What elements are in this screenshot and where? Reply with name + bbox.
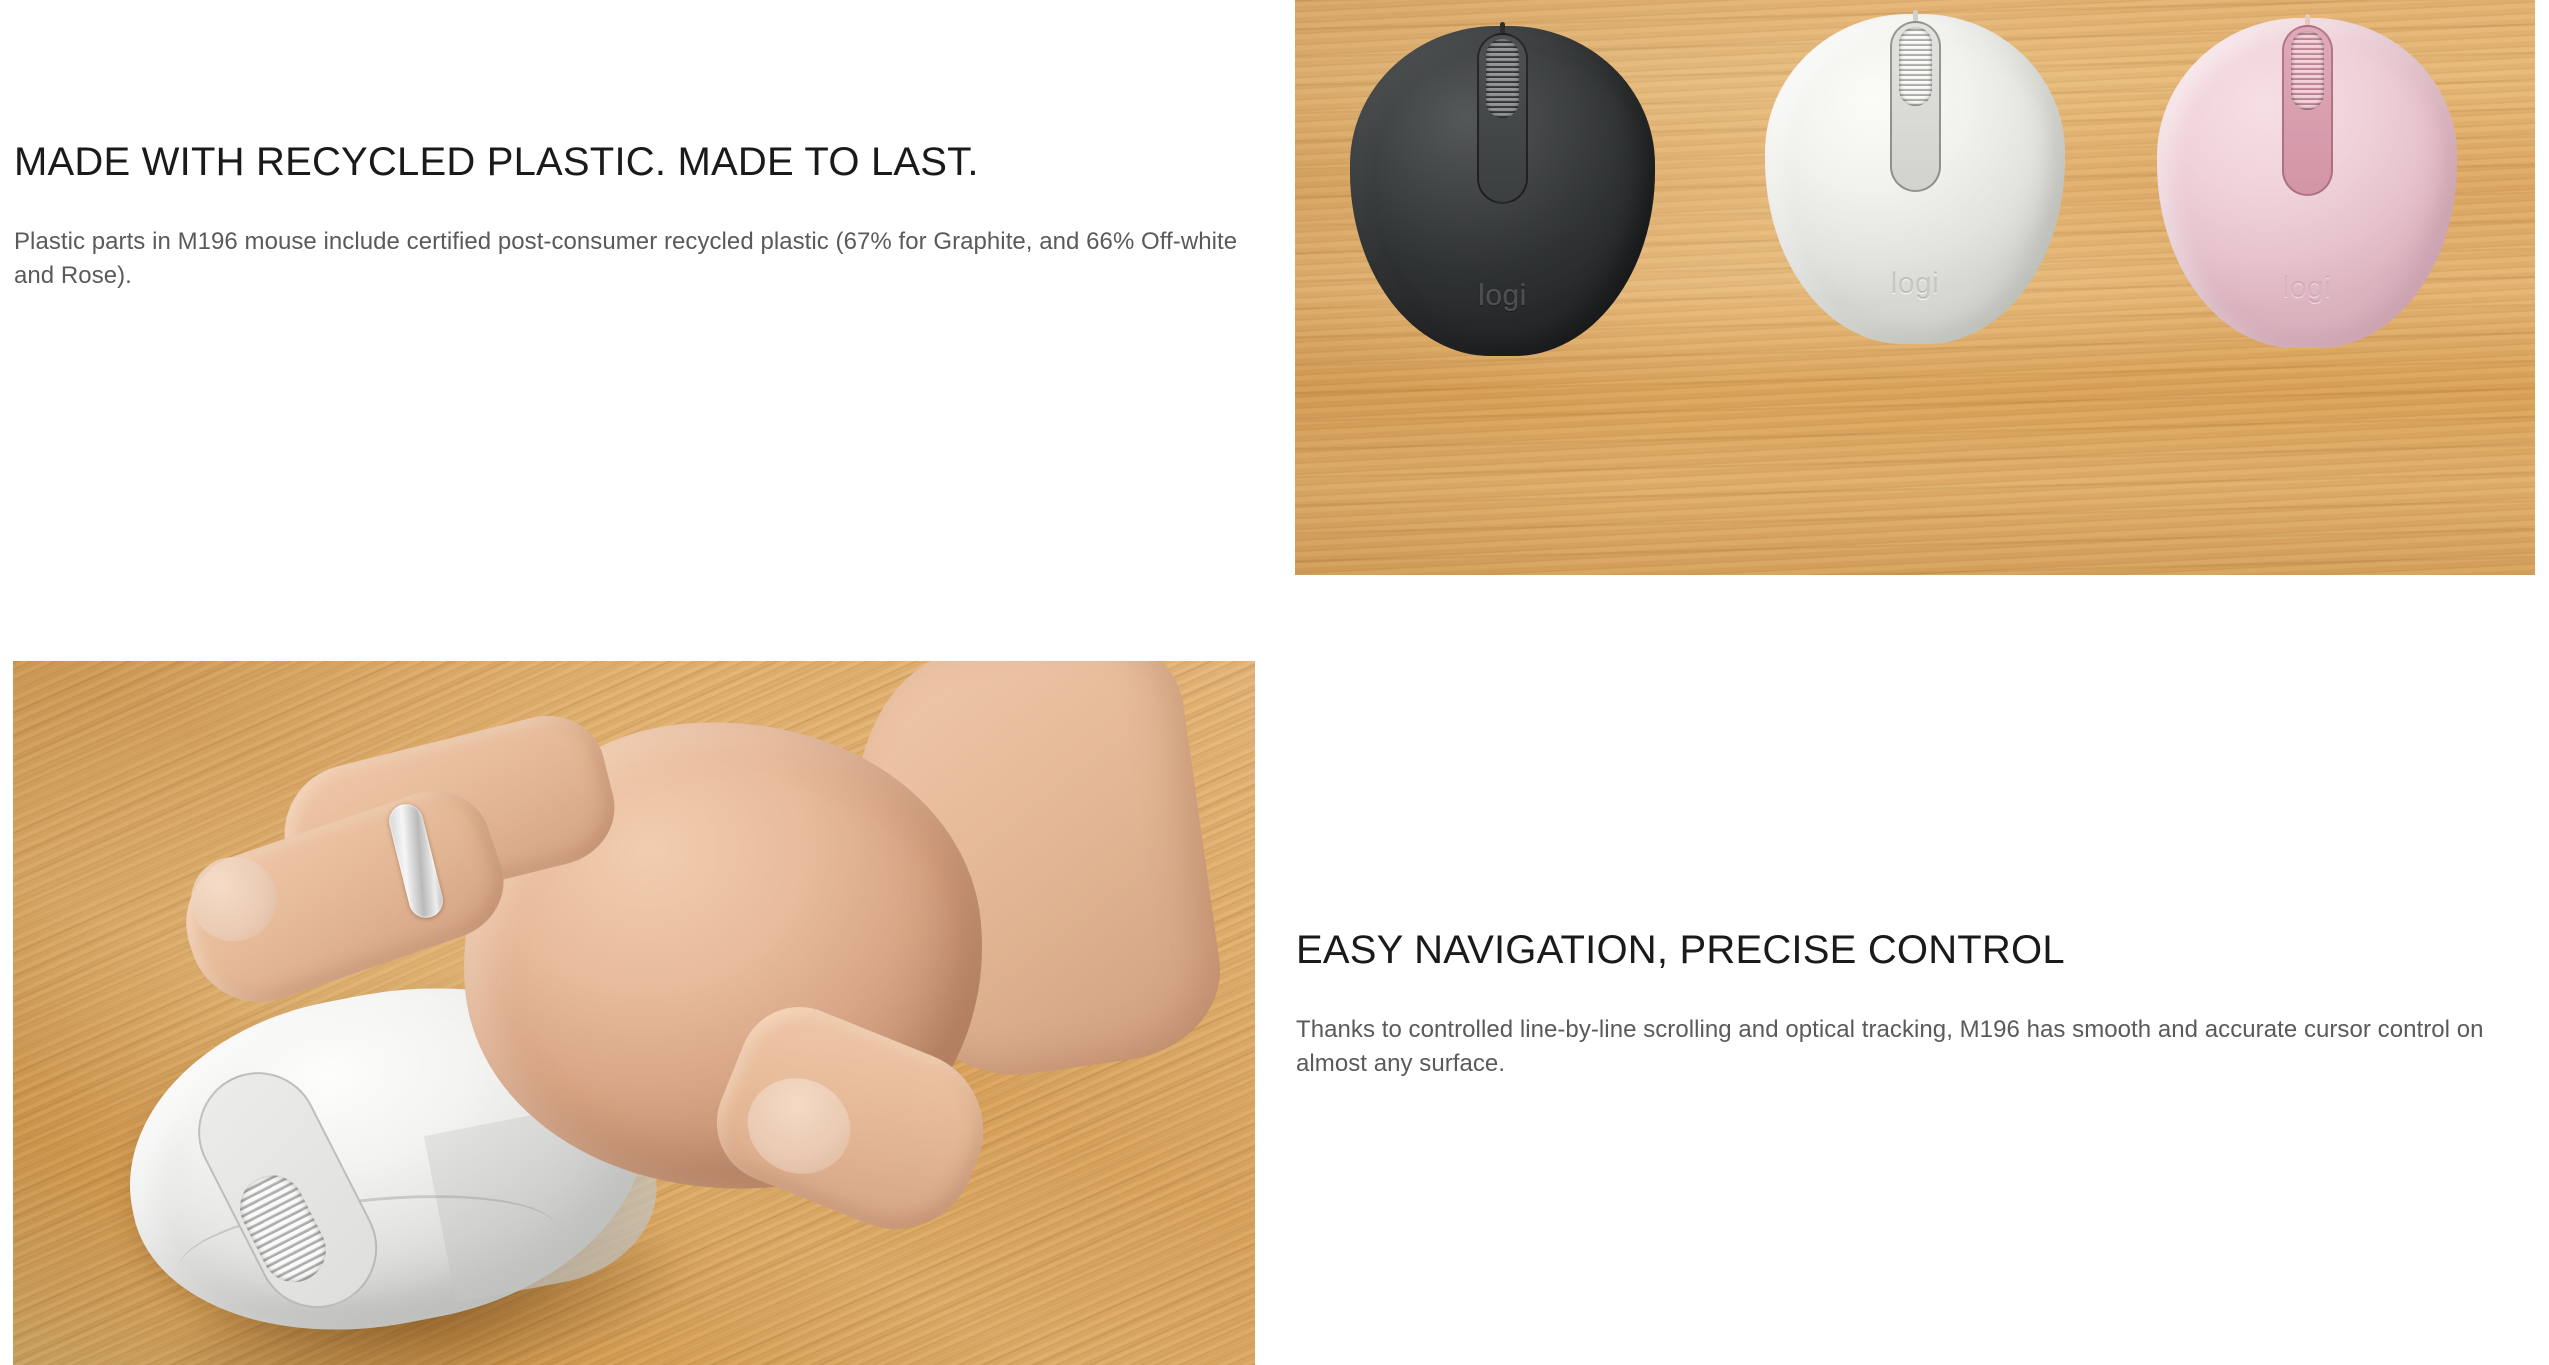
- logi-logo: logi: [1478, 279, 1527, 313]
- logi-logo: logi: [1891, 267, 1940, 301]
- scroll-wheel-icon: [1899, 27, 1932, 106]
- mouse-offwhite: logi: [1765, 14, 2065, 344]
- section-recycled-heading: MADE WITH RECYCLED PLASTIC. MADE TO LAST…: [14, 140, 1259, 185]
- three-mice-product-image: logi logi logi: [1295, 0, 2535, 575]
- section-recycled-text: MADE WITH RECYCLED PLASTIC. MADE TO LAST…: [14, 140, 1259, 293]
- scroll-wheel-icon: [2291, 31, 2324, 110]
- product-feature-page: MADE WITH RECYCLED PLASTIC. MADE TO LAST…: [0, 0, 2549, 1365]
- scroll-wheel-icon: [1486, 39, 1520, 118]
- hand-scene: [13, 661, 1255, 1365]
- section-navigation-heading: EASY NAVIGATION, PRECISE CONTROL: [1296, 928, 2506, 973]
- mouse-rose: logi: [2157, 18, 2457, 348]
- mouse-graphite: logi: [1350, 26, 1655, 356]
- section-recycled-body: Plastic parts in M196 mouse include cert…: [14, 225, 1254, 293]
- hand: [163, 681, 1003, 1321]
- logi-logo: logi: [2283, 271, 2332, 305]
- section-navigation-body: Thanks to controlled line-by-line scroll…: [1296, 1013, 2501, 1081]
- hand-on-mouse-lifestyle-image: [13, 661, 1255, 1365]
- section-navigation-text: EASY NAVIGATION, PRECISE CONTROL Thanks …: [1296, 928, 2506, 1081]
